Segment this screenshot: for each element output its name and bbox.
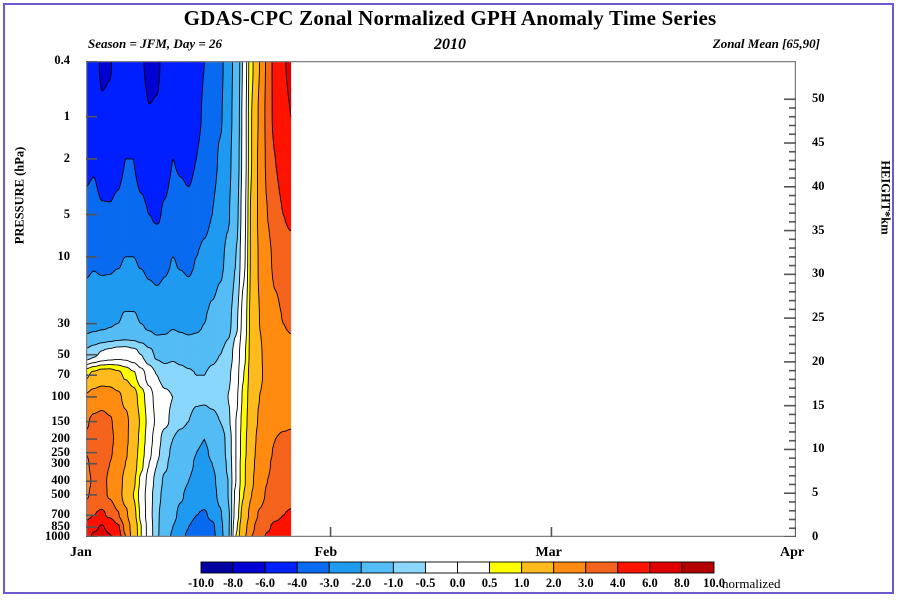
colorbar-swatch: [522, 562, 554, 573]
height-tick-label: 45: [812, 135, 825, 150]
colorbar-swatch: [682, 562, 714, 573]
colorbar-swatch: [490, 562, 522, 573]
height-tick-label: 40: [812, 179, 825, 194]
colorbar-tick-label: 6.0: [642, 576, 658, 590]
colorbar-tick-label: -1.0: [383, 576, 403, 590]
colorbar-swatch: [329, 562, 361, 573]
colorbar-tick-label: -3.0: [319, 576, 339, 590]
height-tick-label: 10: [812, 441, 825, 456]
colorbar-swatch: [265, 562, 297, 573]
contour-fills: [86, 61, 291, 537]
height-tick-label: 0: [812, 529, 818, 544]
colorbar-swatch: [201, 562, 233, 573]
pressure-tick-label: 300: [0, 456, 70, 471]
colorbar-tick-label: 4.0: [610, 576, 626, 590]
colorbar-tick-label: 1.0: [514, 576, 530, 590]
colorbar-swatch: [650, 562, 682, 573]
y-axis-title-height: HEIGHT*km: [878, 113, 893, 283]
colorbar-swatch: [393, 562, 425, 573]
colorbar-tick-label: 0.5: [482, 576, 498, 590]
pressure-tick-label: 2: [0, 151, 70, 166]
height-tick-label: 15: [812, 398, 825, 413]
colorbar-swatch: [425, 562, 457, 573]
page-title: GDAS-CPC Zonal Normalized GPH Anomaly Ti…: [0, 6, 900, 31]
pressure-tick-label: 150: [0, 414, 70, 429]
pressure-tick-label: 1000: [0, 529, 70, 544]
colorbar-tick-label: -10.0: [188, 576, 214, 590]
month-label: Feb: [315, 545, 338, 561]
height-tick-label: 30: [812, 266, 825, 281]
pressure-tick-label: 0.4: [0, 53, 70, 68]
colorbar-tick-label: 2.0: [546, 576, 562, 590]
pressure-tick-label: 10: [0, 249, 70, 264]
colorbar-unit-label: normalized: [722, 576, 780, 592]
contour-canvas: [86, 61, 796, 537]
colorbar-swatch: [233, 562, 265, 573]
pressure-tick-label: 70: [0, 367, 70, 382]
colorbar-tick-label: -8.0: [223, 576, 243, 590]
colorbar-tick-label: -4.0: [287, 576, 307, 590]
month-label: Jan: [70, 545, 92, 561]
colorbar-swatch: [554, 562, 586, 573]
month-label: Apr: [780, 545, 804, 561]
colorbar-tick-label: -6.0: [255, 576, 275, 590]
pressure-tick-label: 500: [0, 487, 70, 502]
contour-plot: [86, 61, 796, 537]
colorbar-tick-label: 3.0: [578, 576, 594, 590]
colorbar-swatch: [586, 562, 618, 573]
colorbar-swatch: [297, 562, 329, 573]
colorbar-tick-label: 0.0: [450, 576, 466, 590]
colorbar-swatch: [361, 562, 393, 573]
height-tick-label: 50: [812, 91, 825, 106]
pressure-tick-label: 1: [0, 109, 70, 124]
colorbar-tick-label: -2.0: [351, 576, 371, 590]
colorbar-tick-label: 8.0: [674, 576, 690, 590]
height-tick-label: 20: [812, 354, 825, 369]
height-tick-label: 5: [812, 485, 818, 500]
pressure-tick-label: 5: [0, 207, 70, 222]
height-tick-label: 25: [812, 310, 825, 325]
height-tick-label: 35: [812, 223, 825, 238]
colorbar-swatch: [618, 562, 650, 573]
pressure-tick-label: 100: [0, 389, 70, 404]
colorbar-tick-label: -0.5: [416, 576, 436, 590]
pressure-tick-label: 50: [0, 347, 70, 362]
month-label: Mar: [535, 545, 561, 561]
pressure-tick-label: 30: [0, 316, 70, 331]
colorbar-swatch: [458, 562, 490, 573]
subtitle-zonal-mean: Zonal Mean [65,90]: [713, 36, 820, 52]
